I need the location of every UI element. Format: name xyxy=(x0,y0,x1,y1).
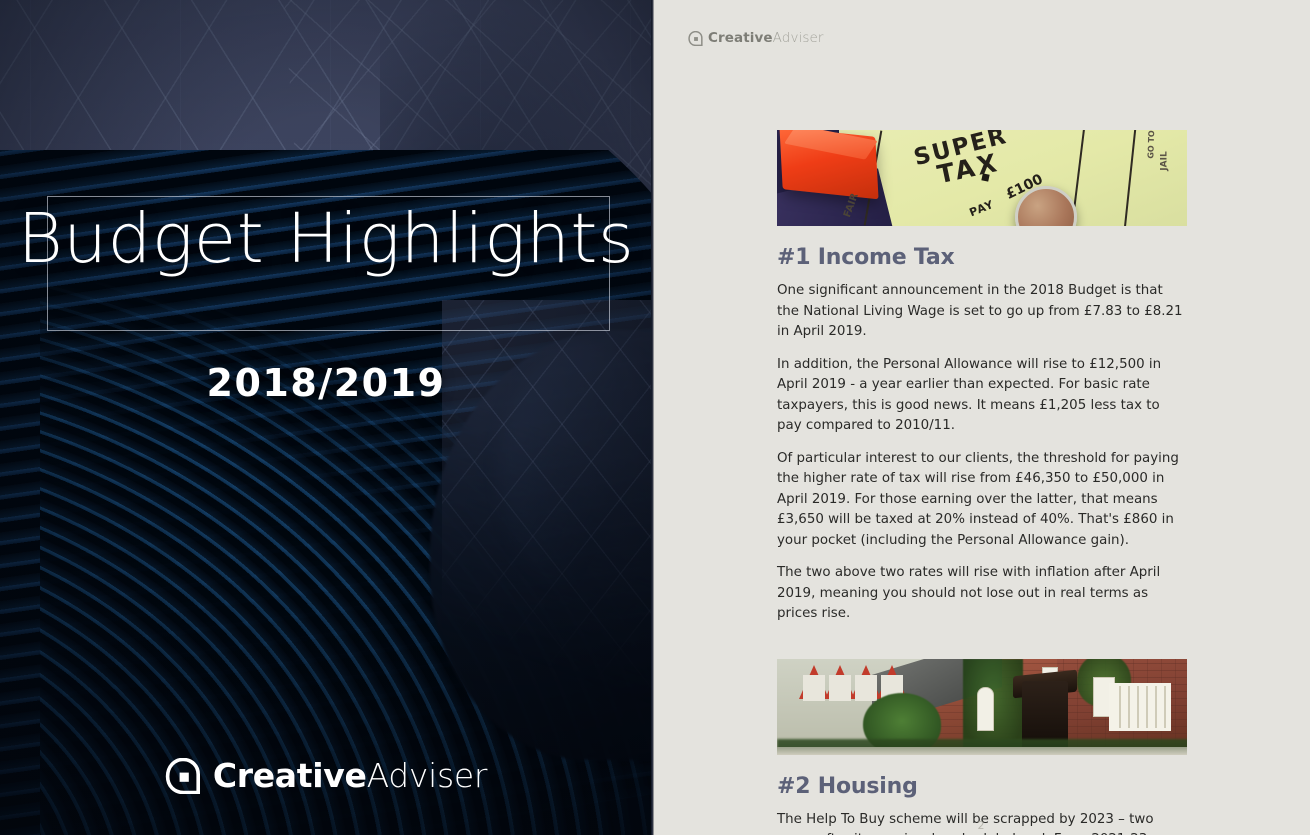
page-header-logo: CreativeAdviser xyxy=(688,30,824,46)
gable-face xyxy=(829,675,851,701)
logo-word-light: Adviser xyxy=(773,30,824,46)
section-1-heading: #1 Income Tax xyxy=(777,245,1187,270)
cover-vignette xyxy=(0,0,652,835)
section-1-paragraph-4: The two above two rates will rise with i… xyxy=(777,563,1187,625)
section-1-paragraph-1: One significant announcement in the 2018… xyxy=(777,281,1187,343)
cover-year: 2018/2019 xyxy=(0,361,652,405)
cover-title: Budget Highlights xyxy=(0,205,652,274)
monopoly-distant-text-1: GO TO xyxy=(1146,130,1156,159)
monopoly-square-marker xyxy=(981,173,989,181)
content-page: CreativeAdviser SUPER TAX PAY £100 FAIR xyxy=(652,0,1310,835)
logo-word-bold: Creative xyxy=(213,756,367,795)
section-2-image xyxy=(777,659,1187,755)
monopoly-distant-text-2: JAIL xyxy=(1160,151,1170,170)
logo-wordmark: CreativeAdviser xyxy=(213,756,487,795)
logo-word-light: Adviser xyxy=(367,756,488,795)
cover-page: Budget Highlights 2018/2019 CreativeAdvi… xyxy=(0,0,652,835)
gable-face xyxy=(855,675,877,701)
section-1-paragraph-2: In addition, the Personal Allowance will… xyxy=(777,355,1187,437)
document-spread: Budget Highlights 2018/2019 CreativeAdvi… xyxy=(0,0,1310,835)
house-bay-window xyxy=(1109,683,1171,731)
cover-photo xyxy=(0,0,652,835)
section-1-paragraph-3: Of particular interest to our clients, t… xyxy=(777,449,1187,552)
monopoly-red-hotel-piece xyxy=(779,130,878,199)
page-content-column: SUPER TAX PAY £100 FAIR GO TO JAIL #1 In… xyxy=(777,130,1187,835)
houses-pavement xyxy=(777,747,1187,755)
creativeadviser-logo-icon xyxy=(165,758,201,794)
creativeadviser-logo-icon xyxy=(688,31,703,46)
page-gutter xyxy=(651,0,654,835)
logo-word-bold: Creative xyxy=(708,30,773,46)
gable-face xyxy=(803,675,825,701)
section-1-image: SUPER TAX PAY £100 FAIR GO TO JAIL xyxy=(777,130,1187,226)
section-spacer xyxy=(777,637,1187,659)
page-number: 2 xyxy=(652,819,1310,832)
logo-wordmark: CreativeAdviser xyxy=(708,30,824,46)
section-2-heading: #2 Housing xyxy=(777,774,1187,799)
cover-logo: CreativeAdviser xyxy=(0,756,652,795)
